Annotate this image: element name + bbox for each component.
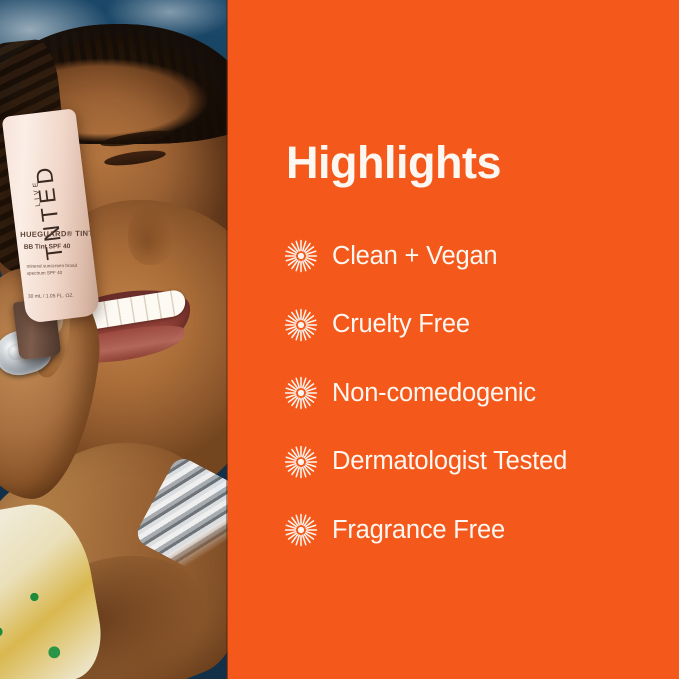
model-nose bbox=[128, 205, 174, 265]
product-line-text: HUEGUARD® TINT bbox=[20, 229, 94, 239]
product-volume-text: 30 mL / 1.05 FL. OZ. bbox=[28, 293, 98, 300]
sunburst-icon bbox=[284, 308, 318, 342]
sunburst-icon bbox=[284, 513, 318, 547]
highlights-panel: Highlights bbox=[228, 0, 679, 679]
product-type-text: BB Tint SPF 40 bbox=[24, 243, 94, 251]
page-title: Highlights bbox=[286, 140, 501, 185]
highlight-label: Non-comedogenic bbox=[332, 379, 536, 408]
product-claims-text: mineral sunscreen broad spectrum SPF 40 bbox=[27, 262, 97, 277]
highlight-label: Dermatologist Tested bbox=[332, 447, 567, 476]
product-lifestyle-photo: TNTED LIVE HUEGUARD® TINT BB Tint SPF 40… bbox=[0, 0, 228, 679]
highlights-list: Clean + Vegan bbox=[284, 222, 679, 565]
list-item: Fragrance Free bbox=[284, 496, 679, 565]
highlights-card: TNTED LIVE HUEGUARD® TINT BB Tint SPF 40… bbox=[0, 0, 679, 679]
highlight-label: Cruelty Free bbox=[332, 310, 470, 339]
highlight-label: Clean + Vegan bbox=[332, 242, 497, 271]
highlight-label: Fragrance Free bbox=[332, 516, 505, 545]
sunburst-icon bbox=[284, 376, 318, 410]
panel-divider bbox=[226, 0, 228, 679]
list-item: Clean + Vegan bbox=[284, 222, 679, 291]
list-item: Non-comedogenic bbox=[284, 359, 679, 428]
list-item: Cruelty Free bbox=[284, 291, 679, 360]
list-item: Dermatologist Tested bbox=[284, 428, 679, 497]
sunburst-icon bbox=[284, 445, 318, 479]
sunburst-icon bbox=[284, 239, 318, 273]
